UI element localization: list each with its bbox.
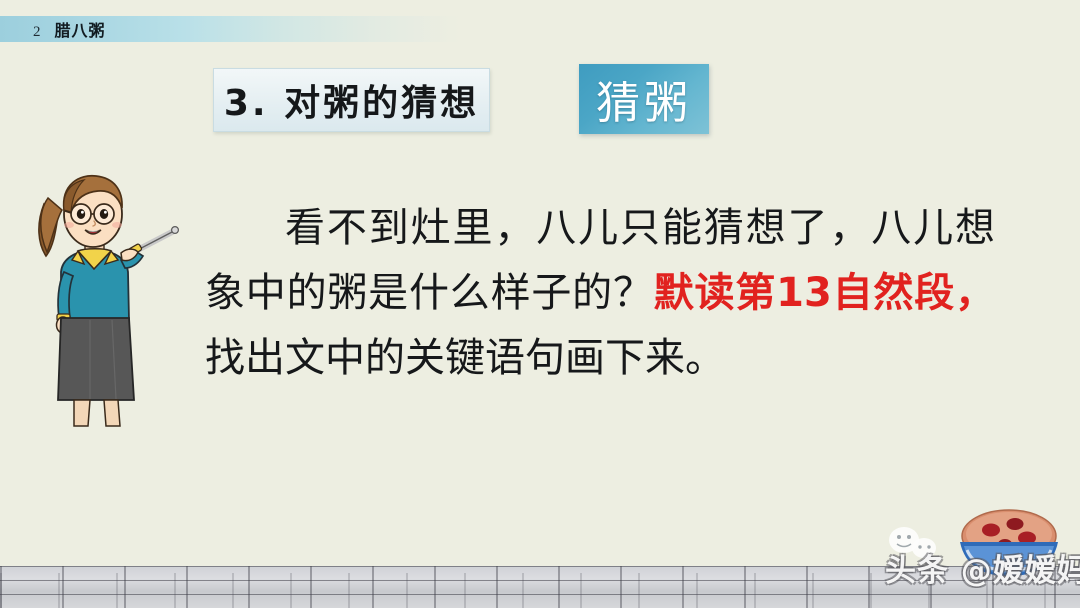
slide-canvas: 2 腊八粥 3. 对粥的猜想 猜粥 [0, 0, 1080, 608]
watermark-username: @嫒嫒妈 [961, 553, 1080, 589]
lesson-header-bar: 2 腊八粥 [0, 16, 460, 42]
lesson-number: 2 [33, 24, 41, 41]
hair-ponytail [39, 198, 62, 256]
skirt [58, 318, 134, 400]
watermark-handle: 头条 @嫒嫒妈 [885, 545, 1080, 590]
section-heading-text: 3. 对粥的猜想 [224, 74, 479, 126]
leg-right [104, 400, 120, 426]
body-segment-accent: 默读第13自然段， [654, 270, 995, 316]
teacher-illustration [28, 168, 208, 430]
body-paragraph: 看不到灶里，八儿只能猜想了，八儿想象中的粥是什么样子的？默读第13自然段，找出文… [205, 196, 995, 391]
section-heading-box: 3. 对粥的猜想 [213, 68, 490, 132]
head [64, 176, 122, 247]
body-segment-3: 找出文中的关键语句画下来。 [205, 335, 725, 381]
lesson-header-inner: 2 腊八粥 [33, 17, 106, 41]
section-keyword-text: 猜粥 [596, 67, 692, 131]
watermark-platform: 头条 [885, 553, 949, 589]
lesson-title: 腊八粥 [55, 17, 106, 41]
section-keyword-box: 猜粥 [579, 64, 709, 134]
leg-left [74, 400, 90, 426]
